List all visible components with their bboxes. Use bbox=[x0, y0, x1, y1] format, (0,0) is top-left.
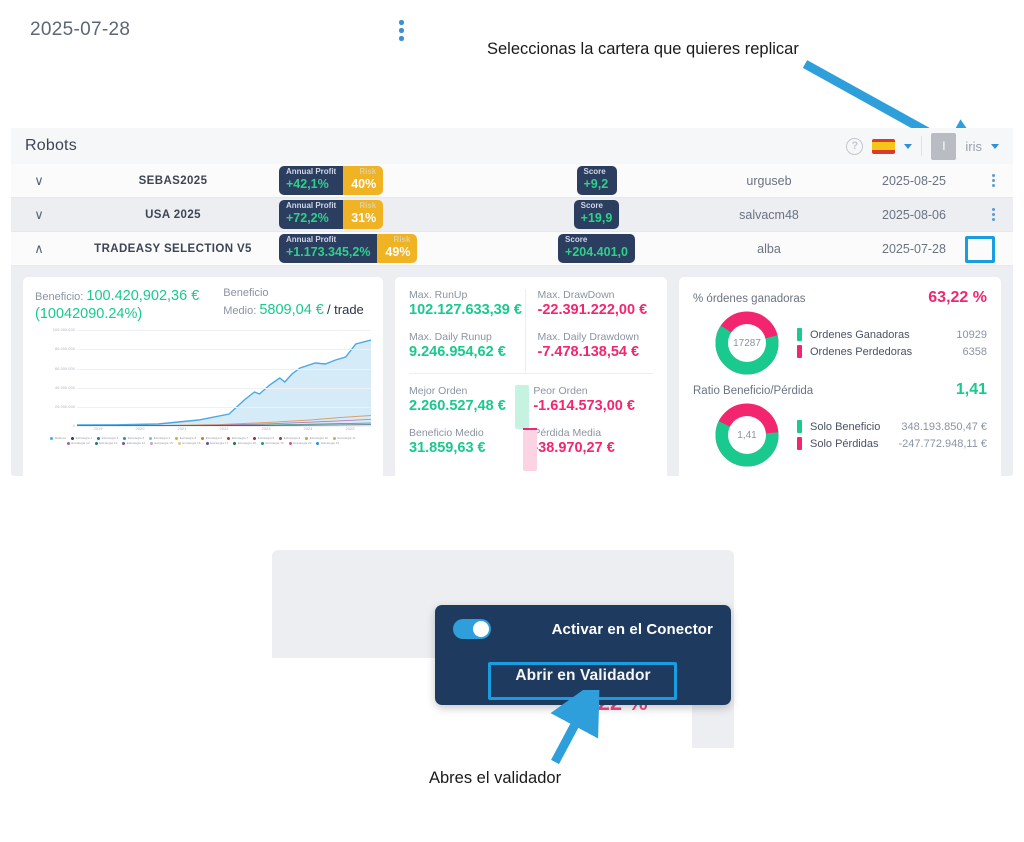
max-drawdown-label: Max. DrawDown bbox=[538, 289, 654, 301]
score-label: Score bbox=[581, 202, 613, 211]
legend-name: Ordenes Perdedoras bbox=[810, 346, 912, 358]
chevron-down-icon-user[interactable] bbox=[991, 144, 999, 149]
legend-value: 10929 bbox=[956, 329, 987, 341]
legend-label: Estrategia 21 bbox=[321, 441, 339, 445]
avg-loss-block: Pérdida Media -38.970,27 € bbox=[533, 427, 653, 456]
legend-item[interactable]: Estrategia 6 bbox=[201, 436, 222, 440]
legend-label: Estrategia 13 bbox=[99, 441, 117, 445]
legend-swatch bbox=[206, 442, 209, 445]
score-value: +9,2 bbox=[584, 177, 610, 191]
annual-profit-badge: Annual Profit +42,1% bbox=[279, 166, 343, 194]
x-tick-label: 2022 bbox=[220, 426, 229, 431]
legend-label: Estrategia 6 bbox=[206, 436, 223, 440]
y-tick-label: 60.000.000 bbox=[55, 367, 75, 371]
annotation-bottom: Abres el validador bbox=[429, 769, 561, 788]
y-tick-label: 100.000.000 bbox=[53, 328, 75, 332]
header-actions: ? I iris bbox=[846, 133, 999, 160]
profit-loss-bars-icon bbox=[515, 385, 537, 471]
row-expand-chevron[interactable]: ∨ bbox=[11, 173, 67, 189]
max-daily-drawdown-value: -7.478.138,54 € bbox=[538, 344, 654, 360]
avg-loss-label: Pérdida Media bbox=[533, 427, 653, 439]
winning-orders-label: % órdenes ganadoras bbox=[693, 293, 806, 305]
legend-swatch bbox=[149, 437, 152, 440]
benefit-headline: Beneficio: 100.420,902,36 € (10042090.24… bbox=[35, 287, 199, 323]
profit-bar bbox=[515, 385, 529, 429]
robots-list: ∨ SEBAS2025 Annual Profit +42,1% Risk 40… bbox=[11, 164, 1013, 266]
activate-connector-toggle[interactable] bbox=[453, 619, 491, 639]
risk-label: Risk bbox=[350, 202, 376, 211]
legend-label: Estrategia 15 bbox=[155, 441, 173, 445]
max-runup-label: Max. RunUp bbox=[409, 289, 525, 301]
legend-swatch bbox=[178, 442, 181, 445]
score-badge: Score +19,9 bbox=[574, 200, 620, 228]
gridline bbox=[77, 369, 371, 370]
x-tick-label: 2024 bbox=[304, 426, 313, 431]
chart-headlines: Beneficio: 100.420,902,36 € (10042090.24… bbox=[35, 287, 371, 323]
legend-label: Estrategia 11 bbox=[338, 436, 356, 440]
benefit-label: Beneficio: bbox=[35, 291, 83, 303]
robots-panel: Robots ? I iris ∨ SEBAS2025 Annual Profi… bbox=[11, 128, 1013, 476]
legend-label: Estrategia 2 bbox=[102, 436, 119, 440]
worst-order-value: -1.614.573,00 € bbox=[533, 398, 653, 414]
avg-profit-value: 31.859,63 € bbox=[409, 440, 509, 456]
legend-item[interactable]: Estrategia 8 bbox=[253, 436, 274, 440]
legend-item[interactable]: Balance bbox=[50, 436, 66, 440]
max-drawdown-block: Max. DrawDown -22.391.222,00 € bbox=[538, 289, 654, 318]
spain-flag-icon[interactable] bbox=[872, 139, 895, 154]
legend-item[interactable]: Estrategia 21 bbox=[316, 441, 339, 445]
equity-chart-card: Beneficio: 100.420,902,36 € (10042090.24… bbox=[23, 277, 383, 485]
legend-swatch bbox=[305, 437, 308, 440]
annual-profit-value: +72,2% bbox=[286, 211, 336, 225]
stats-col-right: Max. DrawDown -22.391.222,00 € Max. Dail… bbox=[525, 289, 654, 373]
legend-swatch bbox=[316, 442, 319, 445]
y-tick-label: 80.000.000 bbox=[55, 347, 75, 351]
winning-orders-header: % órdenes ganadoras 63,22 % bbox=[693, 289, 987, 307]
annual-profit-value: +1.173.345,2% bbox=[286, 245, 370, 259]
row-menu-highlight bbox=[965, 236, 995, 263]
legend-item[interactable]: Estrategia 19 bbox=[261, 441, 284, 445]
legend-item[interactable]: Estrategia 18 bbox=[233, 441, 256, 445]
risk-value: 31% bbox=[350, 211, 376, 225]
annual-profit-badge: Annual Profit +1.173.345,2% bbox=[279, 234, 377, 262]
legend-item[interactable]: Estrategia 9 bbox=[279, 436, 300, 440]
legend-swatch bbox=[175, 437, 178, 440]
legend-item[interactable]: Estrategia 12 bbox=[67, 441, 90, 445]
legend-item[interactable]: Estrategia 15 bbox=[150, 441, 173, 445]
legend-swatch bbox=[122, 442, 125, 445]
list-item: Ordenes Ganadoras 10929 bbox=[797, 328, 987, 341]
legend-label: Estrategia 1 bbox=[76, 436, 93, 440]
legend-item[interactable]: Estrategia 1 bbox=[71, 436, 92, 440]
stats-card: Max. RunUp 102.127.633,39 € Max. Daily R… bbox=[395, 277, 667, 485]
annual-profit-label: Annual Profit bbox=[286, 168, 336, 177]
list-item: Solo Beneficio 348.193.850,47 € bbox=[797, 420, 987, 433]
legend-label: Estrategia 17 bbox=[210, 441, 228, 445]
annual-profit-badge: Annual Profit +72,2% bbox=[279, 200, 343, 228]
ratio-donut: 1,41 bbox=[715, 403, 779, 467]
question-circle-icon[interactable]: ? bbox=[846, 138, 863, 155]
robot-owner: salvacm48 bbox=[684, 208, 854, 222]
robot-name: USA 2025 bbox=[67, 209, 279, 221]
menu-item-activate-connector[interactable]: Activar en el Conector bbox=[435, 605, 731, 653]
legend-item[interactable]: Estrategia 20 bbox=[289, 441, 312, 445]
score-badge: Score +204.401,0 bbox=[558, 234, 635, 262]
risk-badge: Risk 49% bbox=[377, 234, 417, 262]
list-item: Solo Pérdidas -247.772.948,11 € bbox=[797, 437, 987, 450]
robot-detail: Beneficio: 100.420,902,36 € (10042090.24… bbox=[11, 266, 1013, 497]
score-cell: Score +19,9 bbox=[509, 200, 684, 228]
kebab-menu-icon bbox=[992, 208, 995, 221]
best-order-value: 2.260.527,48 € bbox=[409, 398, 509, 414]
winning-orders-percent: 63,22 % bbox=[928, 289, 987, 307]
annual-profit-value: +42,1% bbox=[286, 177, 336, 191]
winning-orders-total: 17287 bbox=[728, 324, 766, 362]
benefit-percent: (10042090.24%) bbox=[35, 306, 142, 322]
robot-date: 2025-08-25 bbox=[854, 174, 974, 188]
kebab-menu-icon bbox=[992, 174, 995, 187]
legend-label: Estrategia 9 bbox=[284, 436, 301, 440]
legend-label: Estrategia 8 bbox=[258, 436, 275, 440]
robot-owner: urguseb bbox=[684, 174, 854, 188]
legend-swatch bbox=[67, 442, 70, 445]
stats-lower-grid: Mejor Orden 2.260.527,48 € Beneficio Med… bbox=[409, 385, 653, 469]
avg-benefit-headline: Beneficio Medio: 5809,04 € / trade bbox=[223, 287, 364, 323]
list-item: Ordenes Perdedoras 6358 bbox=[797, 345, 987, 358]
legend-swatch-pink bbox=[797, 345, 802, 358]
legend-swatch bbox=[123, 437, 126, 440]
score-label: Score bbox=[584, 168, 610, 177]
score-badge: Score +9,2 bbox=[577, 166, 617, 194]
legend-label: Estrategia 14 bbox=[127, 441, 145, 445]
chart-svg bbox=[77, 330, 371, 426]
chart-area-fill bbox=[77, 340, 371, 426]
score-cell: Score +204.401,0 bbox=[509, 234, 684, 262]
ratio-legend: Solo Beneficio 348.193.850,47 € Solo Pér… bbox=[797, 416, 987, 454]
stats-col-left: Max. RunUp 102.127.633,39 € Max. Daily R… bbox=[409, 289, 525, 373]
legend-label: Estrategia 5 bbox=[180, 436, 197, 440]
gridline bbox=[77, 388, 371, 389]
legend-label: Estrategia 4 bbox=[154, 436, 171, 440]
chart-canvas bbox=[77, 330, 371, 426]
metrics-badges: Annual Profit +72,2% Risk 31% bbox=[279, 200, 509, 228]
menu-item-label: Activar en el Conector bbox=[552, 621, 713, 638]
legend-item[interactable]: Estrategia 13 bbox=[95, 441, 118, 445]
legend-value: 348.193.850,47 € bbox=[901, 421, 987, 433]
table-row-selected[interactable]: ∧ TRADEASY SELECTION V5 Annual Profit +1… bbox=[11, 232, 1013, 266]
max-drawdown-value: -22.391.222,00 € bbox=[538, 302, 654, 318]
x-axis: 2019202020212022202320242025 bbox=[77, 426, 371, 435]
legend-swatch-green bbox=[797, 328, 802, 341]
gridline bbox=[77, 330, 371, 331]
avg-benefit-value: 5809,04 € bbox=[259, 302, 324, 318]
metrics-badges: Annual Profit +42,1% Risk 40% bbox=[279, 166, 509, 194]
winning-orders-legend: Ordenes Ganadoras 10929 Ordenes Perdedor… bbox=[797, 324, 987, 362]
max-daily-runup-block: Max. Daily Runup 9.246.954,62 € bbox=[409, 331, 525, 360]
score-label: Score bbox=[565, 236, 628, 245]
y-tick-label: 20.000.000 bbox=[55, 405, 75, 409]
x-tick-label: 2019 bbox=[94, 426, 103, 431]
winning-orders-donut: 17287 bbox=[715, 311, 779, 375]
worst-order-label: Peor Orden bbox=[533, 385, 653, 397]
robot-name: TRADEASY SELECTION V5 bbox=[67, 243, 279, 255]
legend-label: Estrategia 20 bbox=[293, 441, 311, 445]
legend-swatch-pink bbox=[797, 437, 802, 450]
table-row[interactable]: ∨ USA 2025 Annual Profit +72,2% Risk 31%… bbox=[11, 198, 1013, 232]
legend-item[interactable]: Estrategia 4 bbox=[149, 436, 170, 440]
risk-badge: Risk 31% bbox=[343, 200, 383, 228]
legend-name: Solo Beneficio bbox=[810, 421, 880, 433]
avg-profit-block: Beneficio Medio 31.859,63 € bbox=[409, 427, 509, 456]
legend-label: Estrategia 12 bbox=[71, 441, 89, 445]
worst-order-block: Peor Orden -1.614.573,00 € bbox=[533, 385, 653, 414]
benefit-value: 100.420,902,36 € bbox=[86, 288, 199, 304]
legend-item[interactable]: Estrategia 11 bbox=[333, 436, 356, 440]
legend-swatch bbox=[279, 437, 282, 440]
legend-label: Estrategia 19 bbox=[265, 441, 283, 445]
risk-badge: Risk 40% bbox=[343, 166, 383, 194]
score-value: +19,9 bbox=[581, 211, 613, 225]
winning-orders-row: 17287 Ordenes Ganadoras 10929 Ordenes Pe… bbox=[693, 311, 987, 375]
legend-swatch bbox=[233, 442, 236, 445]
robot-date: 2025-07-28 bbox=[854, 242, 974, 256]
stats-col-best: Mejor Orden 2.260.527,48 € Beneficio Med… bbox=[409, 385, 509, 469]
ratio-row: 1,41 Solo Beneficio 348.193.850,47 € Sol… bbox=[693, 403, 987, 467]
legend-swatch bbox=[95, 442, 98, 445]
legend-item[interactable]: Estrategia 7 bbox=[227, 436, 248, 440]
max-runup-block: Max. RunUp 102.127.633,39 € bbox=[409, 289, 525, 318]
risk-label: Risk bbox=[350, 168, 376, 177]
app-header: Robots ? I iris bbox=[11, 128, 1013, 164]
max-daily-drawdown-label: Max. Daily Drawdown bbox=[538, 331, 654, 343]
ratio-label: Ratio Beneficio/Pérdida bbox=[693, 385, 813, 397]
avatar[interactable]: I bbox=[931, 133, 956, 160]
avg-benefit-label-1: Beneficio bbox=[223, 287, 268, 299]
avg-benefit-suffix: / trade bbox=[327, 302, 364, 317]
legend-item[interactable]: Estrategia 3 bbox=[123, 436, 144, 440]
legend-item[interactable]: Estrategia 14 bbox=[122, 441, 145, 445]
legend-swatch bbox=[227, 437, 230, 440]
legend-swatch bbox=[97, 437, 100, 440]
page-title: Robots bbox=[25, 137, 77, 155]
user-name[interactable]: iris bbox=[965, 139, 982, 154]
row-collapse-chevron[interactable]: ∧ bbox=[11, 241, 67, 257]
robot-name: SEBAS2025 bbox=[67, 175, 279, 187]
open-validator-highlight bbox=[488, 662, 677, 700]
legend-item[interactable]: Estrategia 16 bbox=[178, 441, 201, 445]
divider bbox=[409, 373, 653, 374]
x-tick-label: 2020 bbox=[136, 426, 145, 431]
avg-benefit-label-2: Medio: bbox=[223, 305, 256, 317]
ratio-center-value: 1,41 bbox=[728, 416, 766, 454]
x-tick-label: 2025 bbox=[346, 426, 355, 431]
avg-profit-label: Beneficio Medio bbox=[409, 427, 509, 439]
legend-swatch bbox=[333, 437, 336, 440]
legend-item[interactable]: Estrategia 5 bbox=[175, 436, 196, 440]
legend-item[interactable]: Estrategia 10 bbox=[305, 436, 328, 440]
legend-label: Balance bbox=[55, 436, 66, 440]
zoomed-row-date: 2025-07-28 bbox=[30, 19, 130, 41]
x-tick-label: 2023 bbox=[262, 426, 271, 431]
metrics-badges: Annual Profit +1.173.345,2% Risk 49% bbox=[279, 234, 509, 262]
row-menu-button[interactable] bbox=[974, 208, 1013, 221]
row-expand-chevron[interactable]: ∨ bbox=[11, 207, 67, 223]
legend-swatch bbox=[50, 437, 53, 440]
legend-label: Estrategia 16 bbox=[182, 441, 200, 445]
max-daily-runup-value: 9.246.954,62 € bbox=[409, 344, 525, 360]
chevron-down-icon-language[interactable] bbox=[904, 144, 912, 149]
divider bbox=[921, 136, 922, 156]
best-order-block: Mejor Orden 2.260.527,48 € bbox=[409, 385, 509, 414]
stats-upper-grid: Max. RunUp 102.127.633,39 € Max. Daily R… bbox=[409, 289, 653, 373]
score-value: +204.401,0 bbox=[565, 245, 628, 259]
legend-label: Estrategia 7 bbox=[232, 436, 249, 440]
chart-plot-area: 100.000.00080.000.00060.000.00040.000.00… bbox=[35, 330, 371, 426]
legend-name: Solo Pérdidas bbox=[810, 438, 879, 450]
ratio-value: 1,41 bbox=[956, 381, 987, 399]
risk-value: 49% bbox=[384, 245, 410, 259]
y-tick-label: 0 bbox=[73, 424, 75, 428]
orders-ratio-card: % órdenes ganadoras 63,22 % 17287 Ordene… bbox=[679, 277, 1001, 485]
table-row[interactable]: ∨ SEBAS2025 Annual Profit +42,1% Risk 40… bbox=[11, 164, 1013, 198]
annotation-top: Seleccionas la cartera que quieres repli… bbox=[487, 40, 799, 59]
x-tick-label: 2021 bbox=[178, 426, 187, 431]
legend-label: Estrategia 10 bbox=[310, 436, 328, 440]
legend-swatch bbox=[289, 442, 292, 445]
legend-item[interactable]: Estrategia 17 bbox=[206, 441, 229, 445]
legend-swatch bbox=[253, 437, 256, 440]
robot-owner: alba bbox=[684, 242, 854, 256]
robot-date: 2025-08-06 bbox=[854, 208, 974, 222]
row-menu-button[interactable] bbox=[974, 174, 1013, 187]
kebab-menu-icon[interactable] bbox=[399, 20, 404, 44]
best-order-label: Mejor Orden bbox=[409, 385, 509, 397]
legend-name: Ordenes Ganadoras bbox=[810, 329, 910, 341]
stats-col-worst: Peor Orden -1.614.573,00 € Pérdida Media… bbox=[533, 385, 653, 469]
avg-loss-value: -38.970,27 € bbox=[533, 440, 653, 456]
risk-label: Risk bbox=[384, 236, 410, 245]
legend-swatch bbox=[261, 442, 264, 445]
legend-item[interactable]: Estrategia 2 bbox=[97, 436, 118, 440]
legend-swatch bbox=[201, 437, 204, 440]
y-tick-label: 40.000.000 bbox=[55, 386, 75, 390]
gridline bbox=[77, 407, 371, 408]
legend-swatch-green bbox=[797, 420, 802, 433]
annual-profit-label: Annual Profit bbox=[286, 236, 370, 245]
max-daily-drawdown-block: Max. Daily Drawdown -7.478.138,54 € bbox=[538, 331, 654, 360]
annual-profit-label: Annual Profit bbox=[286, 202, 336, 211]
legend-value: 6358 bbox=[963, 346, 987, 358]
legend-swatch bbox=[150, 442, 153, 445]
legend-label: Estrategia 18 bbox=[238, 441, 256, 445]
ratio-header: Ratio Beneficio/Pérdida 1,41 bbox=[693, 381, 987, 399]
gridline bbox=[77, 349, 371, 350]
max-daily-runup-label: Max. Daily Runup bbox=[409, 331, 525, 343]
risk-value: 40% bbox=[350, 177, 376, 191]
y-axis: 100.000.00080.000.00060.000.00040.000.00… bbox=[35, 330, 77, 426]
chart-legend: BalanceEstrategia 1Estrategia 2Estrategi… bbox=[35, 436, 371, 445]
score-cell: Score +9,2 bbox=[509, 166, 684, 194]
loss-bar bbox=[523, 430, 537, 471]
legend-swatch bbox=[71, 437, 74, 440]
legend-value: -247.772.948,11 € bbox=[899, 438, 987, 450]
max-runup-value: 102.127.633,39 € bbox=[409, 302, 525, 318]
legend-label: Estrategia 3 bbox=[128, 436, 145, 440]
